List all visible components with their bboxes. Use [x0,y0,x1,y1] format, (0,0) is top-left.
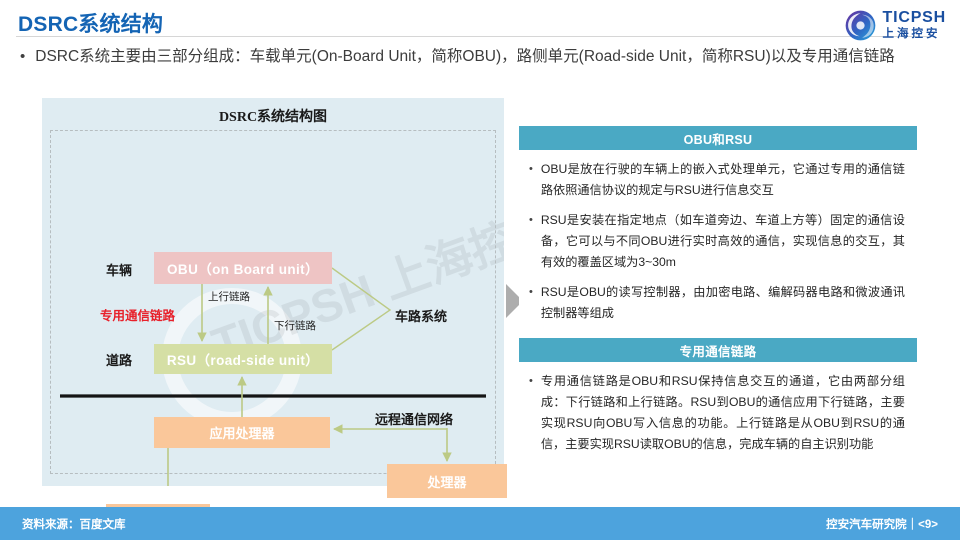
panel-obu-rsu: OBU和RSU • OBU是放在行驶的车辆上的嵌入式处理单元，它通过专用的通信链… [519,126,917,334]
panel-body-obu-rsu: • OBU是放在行驶的车辆上的嵌入式处理单元，它通过专用的通信链路依照通信协议的… [519,150,917,334]
panel-heading-obu-rsu: OBU和RSU [519,126,917,150]
diagram-title: DSRC系统结构图 [42,106,504,126]
label-road: 道路 [106,350,132,369]
title-divider [16,36,928,37]
footer-source: 资料来源：百度文库 [22,516,126,532]
bullet-marker: • [529,371,533,455]
label-downlink: 下行链路 [274,318,316,333]
footer-org: 控安汽车研究院｜<9> [826,516,938,532]
list-item-text: OBU是放在行驶的车辆上的嵌入式处理单元，它通过专用的通信链路依照通信协议的规定… [541,159,905,201]
panel-dedicated-link: 专用通信链路 • 专用通信链路是OBU和RSU保持信息交互的通道，它由两部分组成… [519,338,917,484]
label-dedicated-link: 专用通信链路 [100,305,175,324]
label-remote-network: 远程通信网络 [375,409,453,428]
list-item-text: RSU是安装在指定地点（如车道旁边、车道上方等）固定的通信设备，它可以与不同OB… [541,210,905,273]
slide-footer: 资料来源：百度文库 控安汽车研究院｜<9> [0,507,960,540]
node-rsu: RSU（road-side unit） [154,344,332,374]
list-item-text: 专用通信链路是OBU和RSU保持信息交互的通道，它由两部分组成：下行链路和上行链… [541,371,905,455]
list-item: • RSU是安装在指定地点（如车道旁边、车道上方等）固定的通信设备，它可以与不同… [529,210,905,273]
page-title: DSRC系统结构 [18,8,163,38]
logo-english: TICPSH [883,10,946,26]
node-processor: 处理器 [387,464,507,498]
bullet-marker: • [529,282,533,324]
label-vehicle: 车辆 [106,260,132,279]
node-obu: OBU（on Board unit） [154,252,332,284]
list-item-text: RSU是OBU的读写控制器，由加密电路、编解码器电路和微波通讯控制器等组成 [541,282,905,324]
intro-text: DSRC系统主要由三部分组成：车载单元(On-Board Unit，简称OBU)… [35,44,894,70]
bullet-marker: • [529,159,533,201]
swirl-logo-icon [844,9,877,42]
node-app-processor: 应用处理器 [154,417,330,448]
label-vehicle-road-system: 车路系统 [395,306,447,325]
brand-logo: TICPSH 上海控安 [844,7,946,43]
logo-chinese: 上海控安 [883,29,946,41]
list-item: • RSU是OBU的读写控制器，由加密电路、编解码器电路和微波通讯控制器等组成 [529,282,905,324]
list-item: • 专用通信链路是OBU和RSU保持信息交互的通道，它由两部分组成：下行链路和上… [529,371,905,455]
bullet-marker: • [529,210,533,273]
dsrc-diagram: TICPSH 上海控安 DSRC系统结构图 [42,98,504,486]
label-uplink: 上行链路 [208,289,250,304]
list-item: • OBU是放在行驶的车辆上的嵌入式处理单元，它通过专用的通信链路依照通信协议的… [529,159,905,201]
bullet-marker: • [16,44,25,70]
panel-heading-dedicated-link: 专用通信链路 [519,338,917,362]
slide-root: DSRC系统结构 TICPSH 上海控安 • DSRC系统主要由三部分组成：车载… [0,0,960,540]
intro-bullet: • DSRC系统主要由三部分组成：车载单元(On-Board Unit，简称OB… [16,44,928,70]
panel-body-dedicated-link: • 专用通信链路是OBU和RSU保持信息交互的通道，它由两部分组成：下行链路和上… [519,362,917,465]
